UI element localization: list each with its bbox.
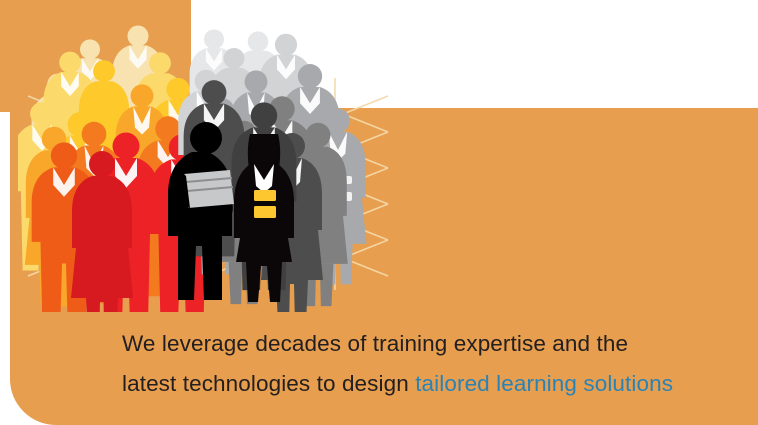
caption-line-2: latest technologies to design tailored l… [122, 364, 742, 404]
caption-line-1: We leverage decades of training expertis… [122, 324, 742, 364]
slide-canvas: We leverage decades of training expertis… [0, 0, 758, 425]
caption-line-2-plain: latest technologies to design [122, 371, 415, 396]
caption-text: We leverage decades of training expertis… [122, 324, 742, 404]
caption-highlight-phrase: tailored learning solutions [415, 371, 673, 396]
folder-icon [184, 170, 234, 208]
crowd-silhouette-artwork [18, 0, 388, 312]
